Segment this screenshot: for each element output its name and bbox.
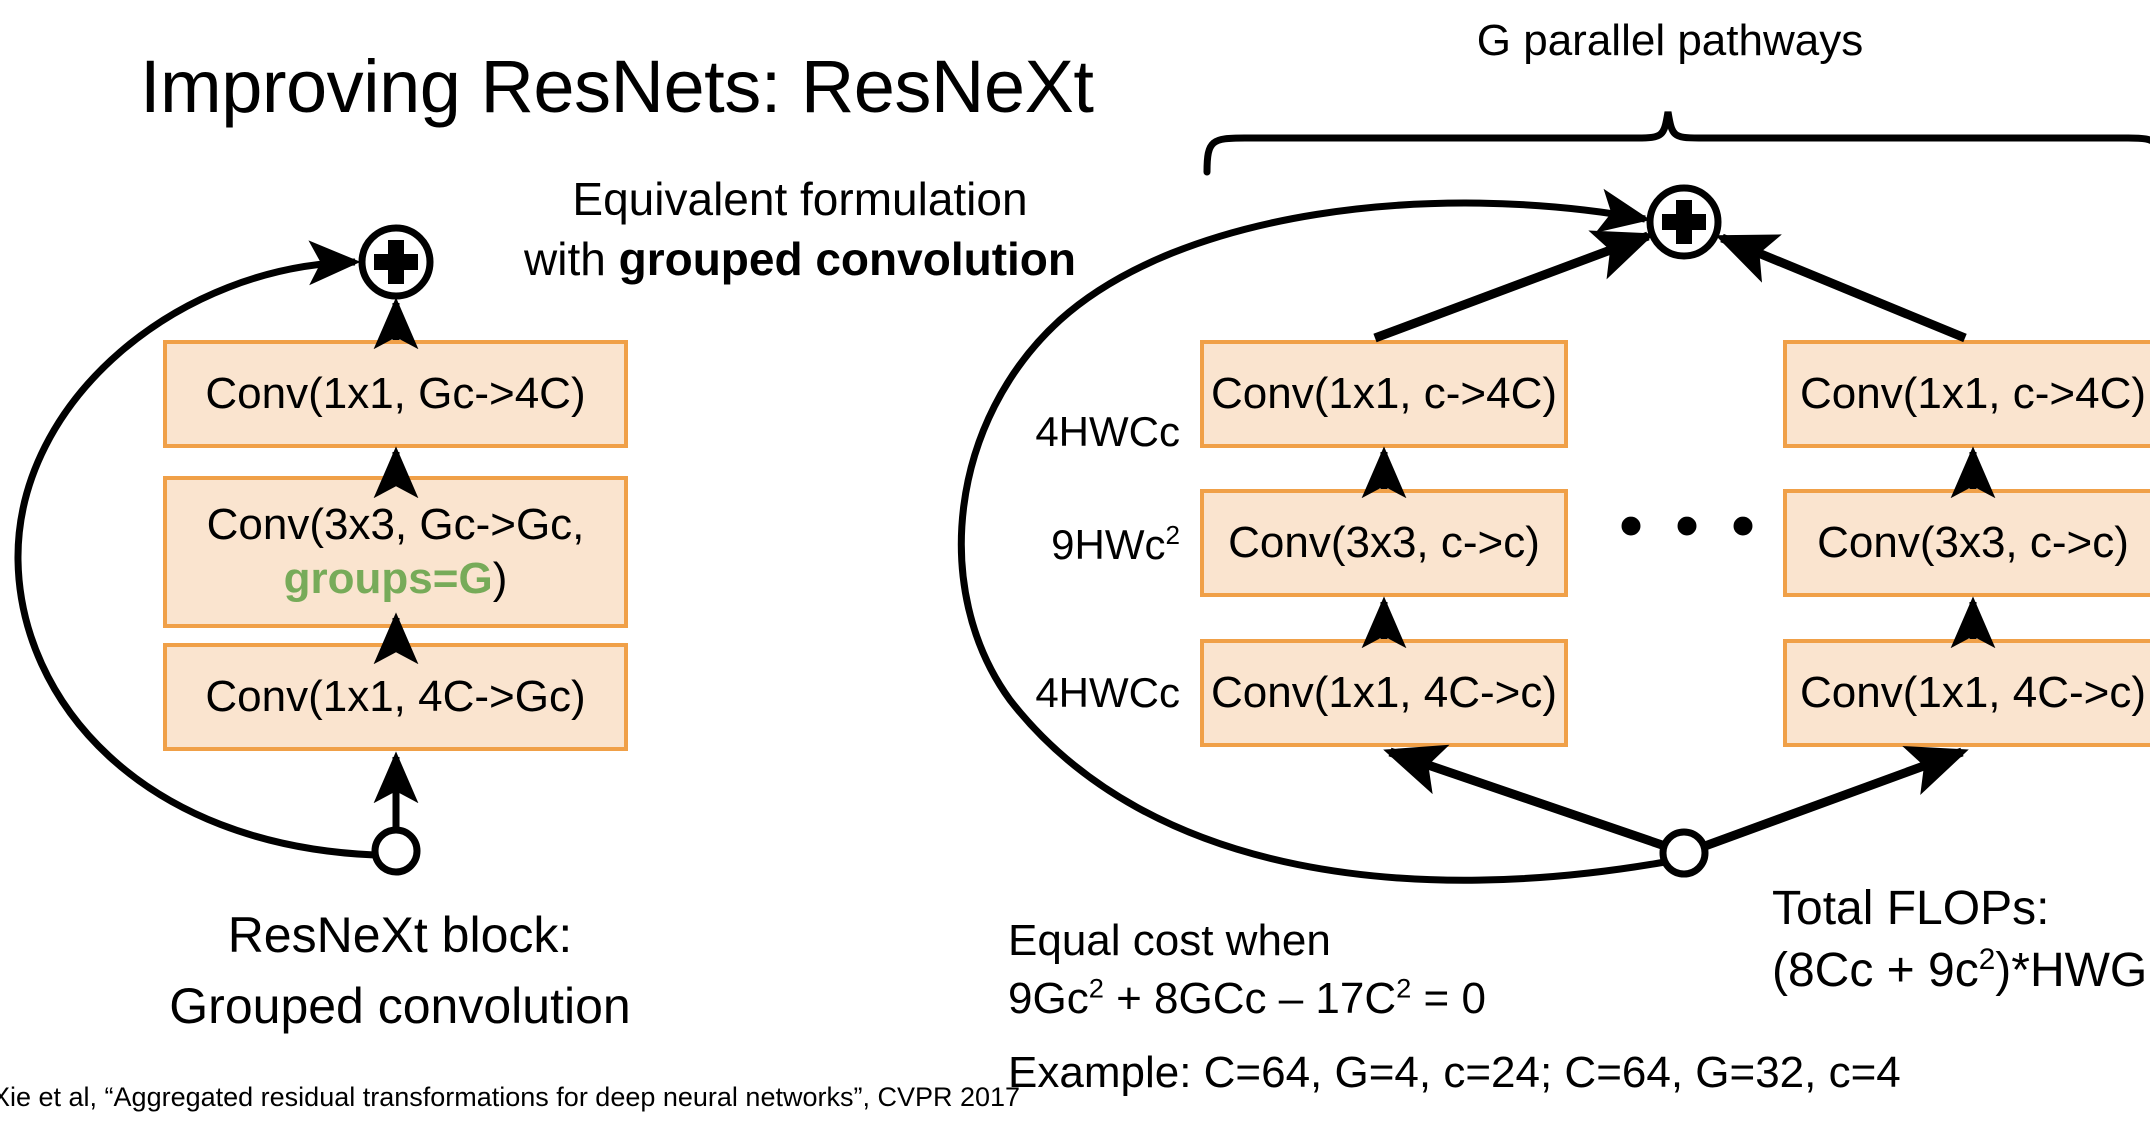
pathway1-conv-box-bottom-label: Conv(1x1, 4C->c) xyxy=(1211,666,1557,720)
equal-cost-exp-b: 2 xyxy=(1396,972,1411,1003)
left-merge-plus-vertical xyxy=(388,240,404,284)
total-flops-prefix: (8Cc + 9c xyxy=(1772,944,1979,997)
pathwayG-conv-box-bottom-label: Conv(1x1, 4C->c) xyxy=(1800,666,2146,720)
equivalent-formulation-line2-bold: grouped convolution xyxy=(619,233,1076,285)
flops-label-middle-base: 9HWc xyxy=(1051,521,1165,568)
left-conv-box-top-label: Conv(1x1, Gc->4C) xyxy=(205,367,585,421)
equivalent-formulation-line2-prefix: with xyxy=(524,233,619,285)
right-merge-plus-vertical xyxy=(1676,200,1692,244)
total-flops-heading: Total FLOPs: xyxy=(1772,878,2147,940)
flops-label-bottom: 4HWCc xyxy=(980,669,1180,717)
left-conv-box-middle-line1: Conv(3x3, Gc->Gc, xyxy=(207,500,585,549)
left-diagram-caption-line1: ResNeXt block: xyxy=(130,900,670,971)
pathway1-conv-box-top-label: Conv(1x1, c->4C) xyxy=(1211,367,1557,421)
equal-cost-heading: Equal cost when xyxy=(1008,912,1486,970)
pathways-ellipsis: • • • xyxy=(1615,490,1765,560)
equal-cost-term-c: = 0 xyxy=(1411,974,1486,1023)
example-values-line: Example: C=64, G=4, c=24; C=64, G=32, c=… xyxy=(1008,1048,1901,1098)
pathwayG-to-merge-line xyxy=(1722,238,1965,338)
parallel-pathways-brace xyxy=(1207,112,2150,172)
slide-canvas: Improving ResNets: ResNeXt Equivalent fo… xyxy=(0,0,2150,1136)
left-conv-box-middle-suffix: ) xyxy=(493,554,508,603)
total-flops-equation: (8Cc + 9c2)*HWG xyxy=(1772,940,2147,1002)
equivalent-formulation-line1: Equivalent formulation xyxy=(470,170,1130,230)
flops-label-bottom-base: 4HWCc xyxy=(1035,669,1180,716)
equal-cost-equation: 9Gc2 + 8GCc – 17C2 = 0 xyxy=(1008,970,1486,1028)
right-merge-node-circle xyxy=(1650,188,1718,256)
pathwayG-conv-box-top: Conv(1x1, c->4C) xyxy=(1783,340,2150,448)
pathwayG-conv-box-middle: Conv(3x3, c->c) xyxy=(1783,489,2150,597)
pathway1-conv-box-top: Conv(1x1, c->4C) xyxy=(1200,340,1568,448)
right-merge-plus-horizontal xyxy=(1662,214,1706,230)
pathway1-to-merge-line xyxy=(1375,236,1648,338)
page-title: Improving ResNets: ResNeXt xyxy=(140,48,1093,126)
citation-text: Xie et al, “Aggregated residual transfor… xyxy=(0,1082,1020,1113)
equivalent-formulation-line2: with grouped convolution xyxy=(470,230,1130,290)
pathwayG-conv-box-bottom: Conv(1x1, 4C->c) xyxy=(1783,639,2150,747)
total-flops-suffix: )*HWG xyxy=(1995,944,2147,997)
pathway1-conv-box-bottom: Conv(1x1, 4C->c) xyxy=(1200,639,1568,747)
groups-highlight: groups=G xyxy=(284,554,493,603)
left-merge-plus-horizontal xyxy=(374,254,418,270)
equivalent-formulation-caption: Equivalent formulation with grouped conv… xyxy=(470,170,1130,290)
split-to-pathwayG-line xyxy=(1705,752,1962,846)
left-merge-node-circle xyxy=(362,228,430,296)
pathway1-conv-box-middle: Conv(3x3, c->c) xyxy=(1200,489,1568,597)
equal-cost-exp-a: 2 xyxy=(1089,972,1104,1003)
split-to-pathway1-line xyxy=(1390,752,1665,846)
left-conv-box-middle-text: Conv(3x3, Gc->Gc, groups=G) xyxy=(207,498,585,605)
flops-label-middle: 9HWc2 xyxy=(980,520,1180,569)
left-conv-box-bottom-label: Conv(1x1, 4C->Gc) xyxy=(205,670,585,724)
equal-cost-term-b: + 8GCc – 17C xyxy=(1104,974,1396,1023)
flops-label-middle-exponent: 2 xyxy=(1166,520,1180,550)
left-diagram-caption-line2: Grouped convolution xyxy=(130,971,670,1042)
equal-cost-block: Equal cost when 9Gc2 + 8GCc – 17C2 = 0 xyxy=(1008,912,1486,1028)
total-flops-block: Total FLOPs: (8Cc + 9c2)*HWG xyxy=(1772,878,2147,1003)
parallel-pathways-label: G parallel pathways xyxy=(1380,16,1960,66)
left-conv-box-middle: Conv(3x3, Gc->Gc, groups=G) xyxy=(163,476,628,628)
left-diagram-caption: ResNeXt block: Grouped convolution xyxy=(130,900,670,1042)
pathwayG-conv-box-middle-label: Conv(3x3, c->c) xyxy=(1817,516,2129,570)
equal-cost-term-a: 9Gc xyxy=(1008,974,1089,1023)
right-split-node-circle xyxy=(1663,832,1705,874)
left-conv-box-bottom: Conv(1x1, 4C->Gc) xyxy=(163,643,628,751)
left-conv-box-top: Conv(1x1, Gc->4C) xyxy=(163,340,628,448)
flops-label-top: 4HWCc xyxy=(980,408,1180,456)
flops-label-top-base: 4HWCc xyxy=(1035,408,1180,455)
pathway1-conv-box-middle-label: Conv(3x3, c->c) xyxy=(1228,516,1540,570)
pathwayG-conv-box-top-label: Conv(1x1, c->4C) xyxy=(1800,367,2146,421)
total-flops-exponent: 2 xyxy=(1979,943,1996,976)
left-split-node-circle xyxy=(375,830,417,872)
